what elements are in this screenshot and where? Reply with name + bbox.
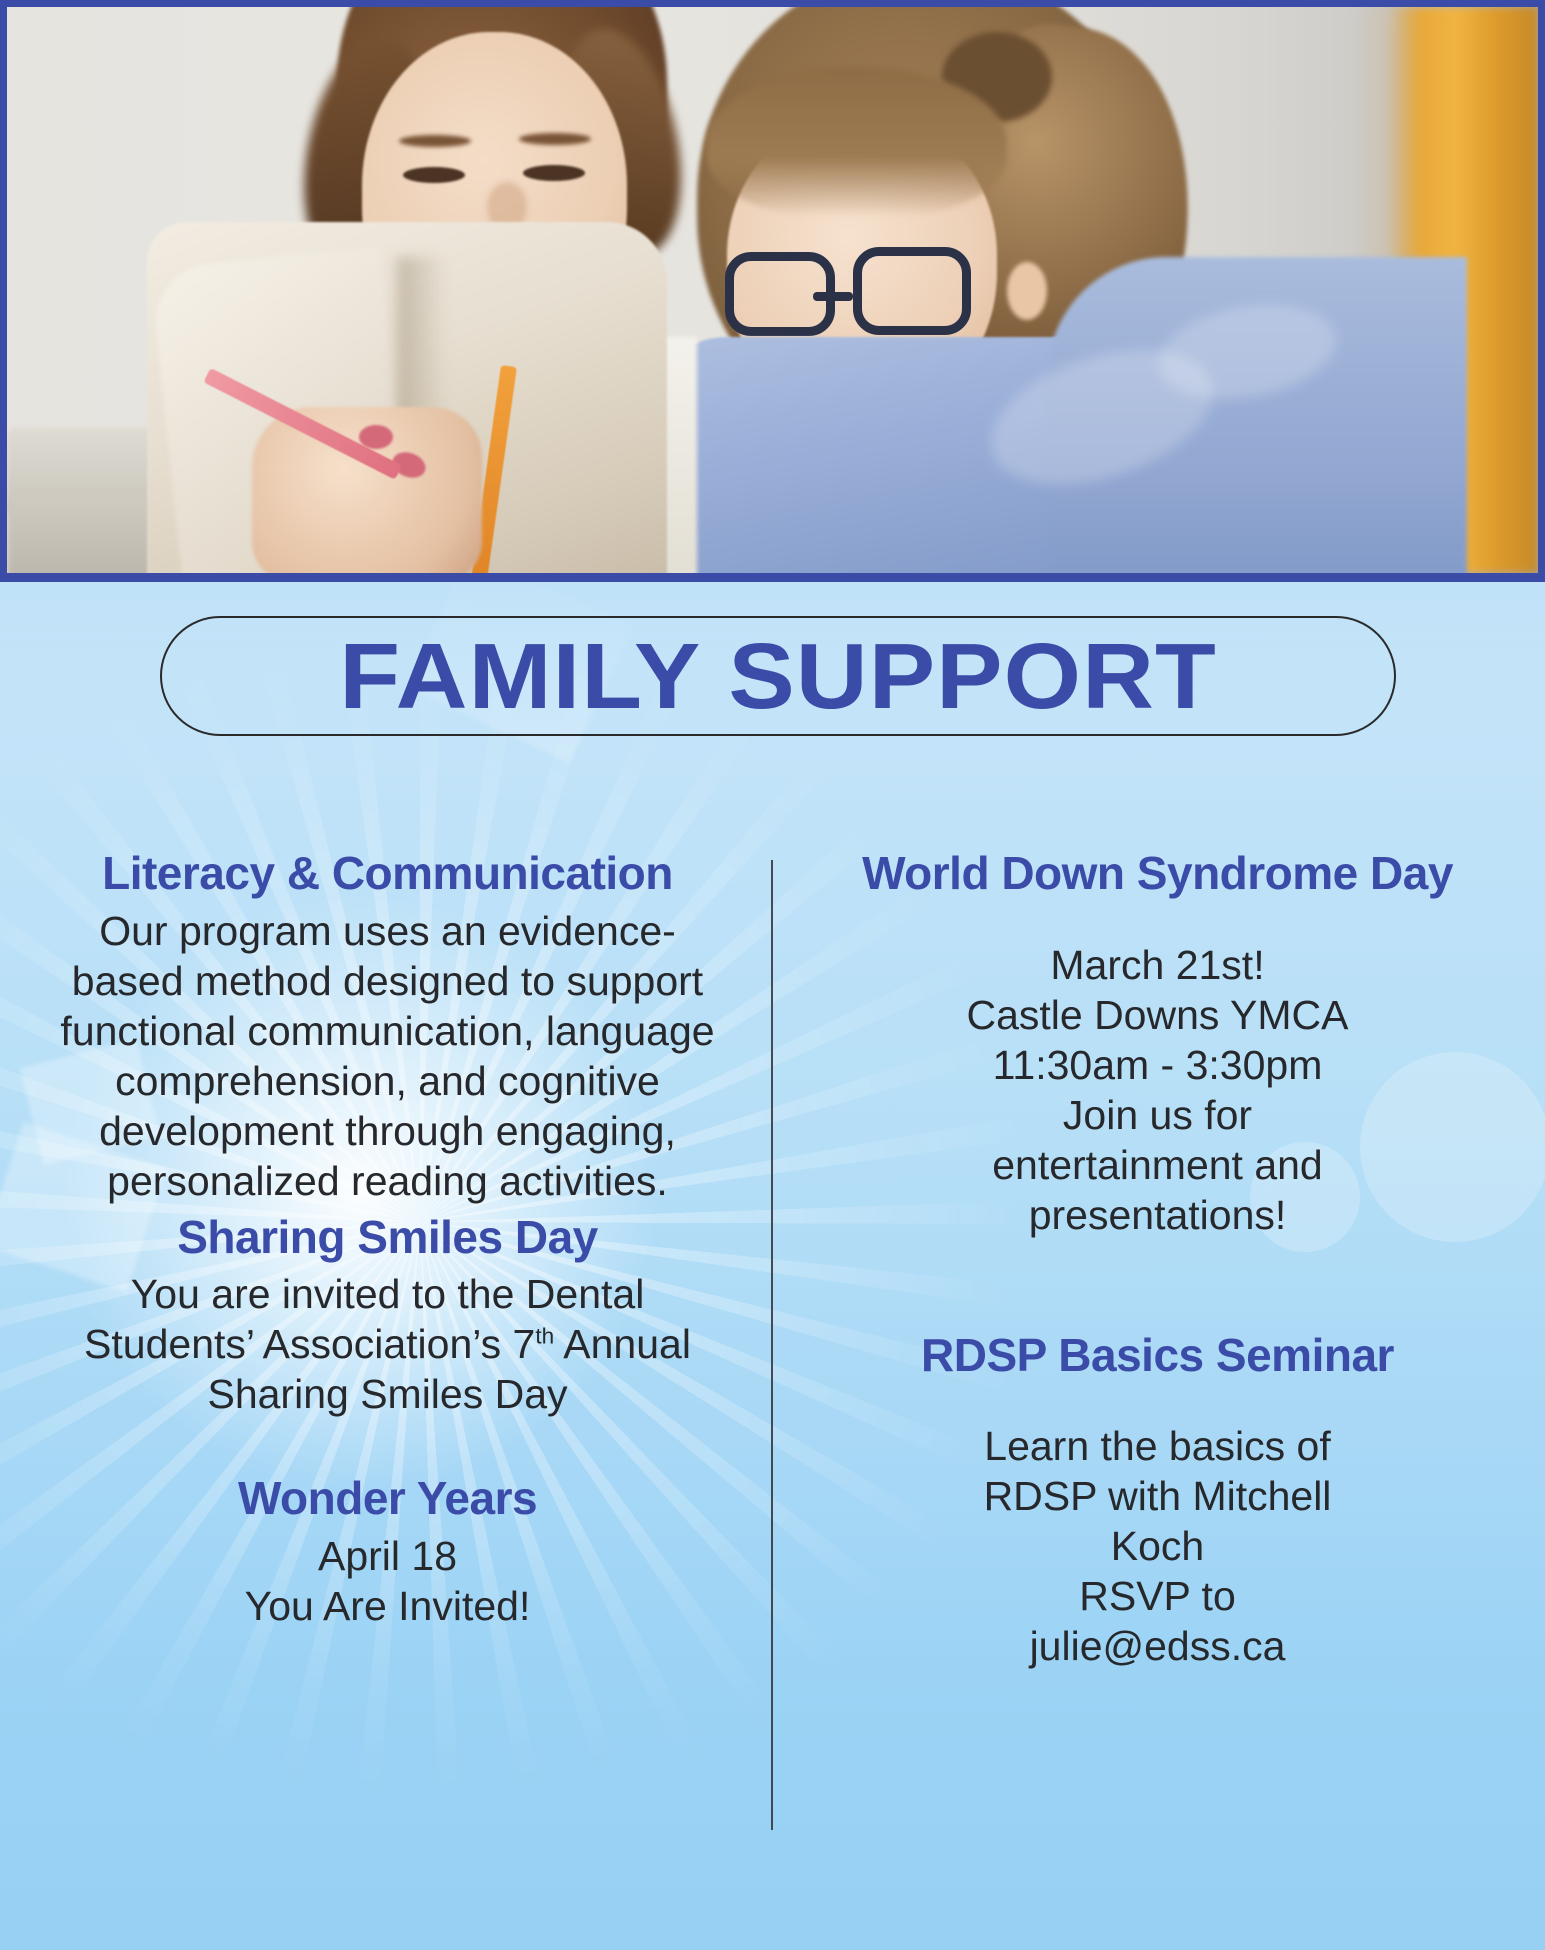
hero-photo-frame	[0, 0, 1545, 582]
hero-photo	[7, 7, 1538, 573]
section-body-literacy: Our program uses an evidence-based metho…	[48, 906, 727, 1206]
photo-woman-brow-right	[519, 133, 591, 145]
photo-woman-brow-left	[399, 135, 471, 147]
photo-woman-eye-left	[403, 167, 465, 183]
rdsp-line-4: RSVP to	[820, 1571, 1495, 1621]
rdsp-line-2: RDSP with Mitchell	[820, 1471, 1495, 1521]
right-column: World Down Syndrome Day March 21st! Cast…	[790, 848, 1525, 1671]
section-heading-wonder-years: Wonder Years	[48, 1473, 727, 1525]
rdsp-line-3: Koch	[820, 1521, 1495, 1571]
photo-girl-glasses-right	[853, 247, 971, 335]
section-heading-wdsd: World Down Syndrome Day	[820, 848, 1495, 900]
wdsd-line-5: entertainment and	[820, 1140, 1495, 1190]
poster: FAMILY SUPPORT Literacy & Communication …	[0, 0, 1545, 1950]
section-body-wonder-years-invite: You Are Invited!	[48, 1581, 727, 1631]
section-body-sharing-smiles: You are invited to the Dental Students’ …	[48, 1269, 727, 1419]
wdsd-line-6: presentations!	[820, 1190, 1495, 1240]
wdsd-line-4: Join us for	[820, 1090, 1495, 1140]
wdsd-line-3: 11:30am - 3:30pm	[820, 1040, 1495, 1090]
page-title: FAMILY SUPPORT	[339, 630, 1217, 723]
photo-girl-glasses-bridge	[813, 292, 853, 301]
wdsd-line-1: March 21st!	[820, 940, 1495, 990]
section-body-wonder-years-date: April 18	[48, 1531, 727, 1581]
left-column: Literacy & Communication Our program use…	[20, 848, 755, 1631]
photo-girl-ear	[1007, 262, 1047, 320]
rdsp-line-1: Learn the basics of	[820, 1421, 1495, 1471]
section-heading-literacy: Literacy & Communication	[48, 848, 727, 900]
sharing-smiles-ordinal-suffix: th	[535, 1323, 554, 1348]
page-title-pill: FAMILY SUPPORT	[160, 616, 1396, 736]
wdsd-line-2: Castle Downs YMCA	[820, 990, 1495, 1040]
content-columns: Literacy & Communication Our program use…	[0, 848, 1545, 1938]
column-divider	[771, 860, 773, 1830]
section-heading-rdsp: RDSP Basics Seminar	[820, 1330, 1495, 1382]
section-heading-sharing-smiles: Sharing Smiles Day	[48, 1212, 727, 1264]
photo-woman-eye-right	[523, 165, 585, 181]
rdsp-line-5: julie@edss.ca	[820, 1621, 1495, 1671]
photo-girl-fringe	[707, 67, 1007, 217]
